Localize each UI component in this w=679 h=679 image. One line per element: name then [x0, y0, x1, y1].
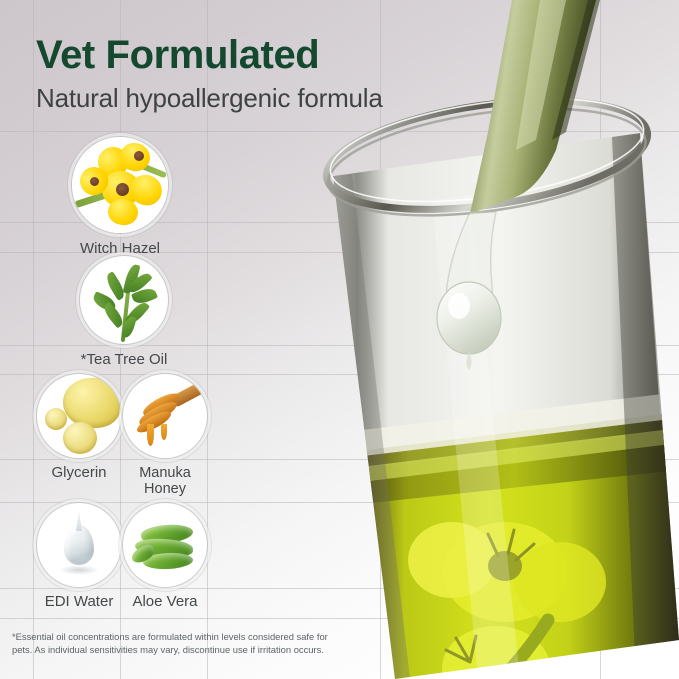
witch-hazel-flower-icon	[72, 137, 168, 233]
ingredient-label: Glycerin	[37, 465, 121, 482]
ingredient-manuka-honey: Manuka Honey	[123, 374, 207, 458]
footnote-disclaimer: *Essential oil concentrations are formul…	[12, 630, 342, 657]
glycerin-oil-droplets-icon	[37, 374, 121, 458]
page-subtitle: Natural hypoallergenic formula	[36, 83, 383, 114]
ingredient-label: Manuka Honey	[123, 465, 207, 497]
page-title: Vet Formulated	[36, 33, 319, 78]
honey-dipper-icon	[123, 374, 207, 458]
ingredient-witch-hazel: Witch Hazel	[72, 137, 168, 233]
ingredient-tea-tree-oil: *Tea Tree Oil	[80, 256, 168, 344]
water-droplet-icon	[37, 503, 121, 587]
aloe-vera-leaf-icon	[123, 503, 207, 587]
ingredient-glycerin: Glycerin	[37, 374, 121, 458]
grid-line-horizontal	[0, 618, 679, 619]
grid-line-vertical	[600, 0, 601, 679]
grid-line-horizontal	[0, 345, 679, 346]
grid-line-vertical	[33, 0, 34, 679]
grid-line-horizontal	[0, 459, 679, 460]
ingredient-label: Aloe Vera	[123, 594, 207, 611]
tea-tree-sprig-icon	[80, 256, 168, 344]
ingredient-aloe-vera: Aloe Vera	[123, 503, 207, 587]
ingredient-edi-water: EDI Water	[37, 503, 121, 587]
marketing-infographic: Vet Formulated Natural hypoallergenic fo…	[0, 0, 679, 679]
grid-line-horizontal	[0, 131, 679, 132]
grid-line-horizontal	[0, 588, 679, 589]
ingredient-label: *Tea Tree Oil	[80, 352, 168, 369]
ingredient-label: EDI Water	[37, 594, 121, 611]
